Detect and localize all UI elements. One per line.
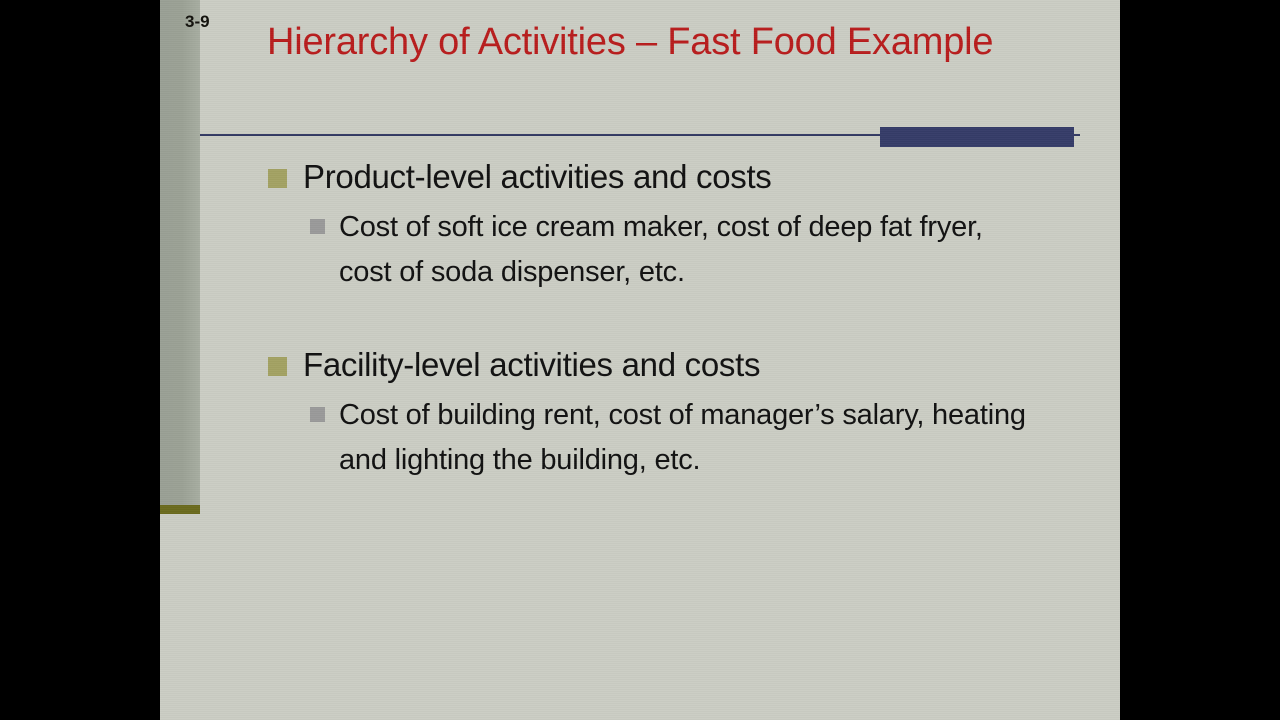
bullet-level1-label: Product-level activities and costs (303, 155, 772, 199)
slide-body: Product-level activities and costs Cost … (160, 155, 1120, 483)
bullet-group-spacer (160, 295, 1120, 343)
bullet-level2-group: Cost of building rent, cost of manager’s… (160, 393, 1120, 483)
bullet-level2-label: Cost of soft ice cream maker, cost of de… (339, 205, 1039, 295)
slide-number: 3-9 (185, 12, 210, 32)
bullet-level2-label: Cost of building rent, cost of manager’s… (339, 393, 1039, 483)
title-divider-block (880, 127, 1074, 147)
small-square-bullet-icon (310, 219, 325, 234)
square-bullet-icon (268, 169, 287, 188)
video-frame: 3-9 Hierarchy of Activities – Fast Food … (0, 0, 1280, 720)
bullet-level2: Cost of building rent, cost of manager’s… (160, 393, 1120, 483)
square-bullet-icon (268, 357, 287, 376)
bullet-level1-label: Facility-level activities and costs (303, 343, 760, 387)
slide-accent-band-footer (160, 505, 200, 514)
bullet-level1: Product-level activities and costs (160, 155, 1120, 199)
bullet-level2-group: Cost of soft ice cream maker, cost of de… (160, 205, 1120, 295)
slide-title: Hierarchy of Activities – Fast Food Exam… (267, 16, 997, 69)
presentation-slide: 3-9 Hierarchy of Activities – Fast Food … (160, 0, 1120, 720)
letterbox-left (0, 0, 160, 720)
bullet-level2: Cost of soft ice cream maker, cost of de… (160, 205, 1120, 295)
small-square-bullet-icon (310, 407, 325, 422)
bullet-level1: Facility-level activities and costs (160, 343, 1120, 387)
letterbox-right (1120, 0, 1280, 720)
